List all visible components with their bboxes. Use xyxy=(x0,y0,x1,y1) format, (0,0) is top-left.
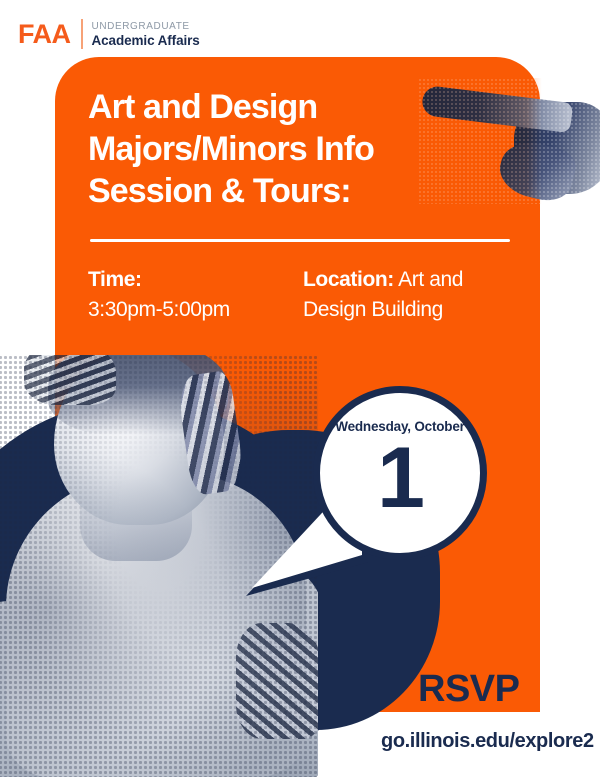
title-line-1: Art and Design xyxy=(88,86,518,128)
title-line-3: Session & Tours: xyxy=(88,170,518,212)
title-divider-rule xyxy=(90,239,510,242)
event-details: Time: 3:30pm-5:00pm Location: Art and De… xyxy=(88,266,518,325)
classical-statue-image xyxy=(0,355,318,777)
location-value-second-line: Design Building xyxy=(303,294,518,325)
page-title: Art and Design Majors/Minors Info Sessio… xyxy=(88,86,518,212)
location-first-line: Location: Art and xyxy=(303,266,518,294)
rsvp-url[interactable]: go.illinois.edu/explore2 xyxy=(381,729,594,753)
date-day-number: 1 xyxy=(377,432,423,524)
time-value: 3:30pm-5:00pm xyxy=(88,294,303,325)
logo-divider xyxy=(81,19,83,49)
statue-halftone-overlay xyxy=(0,355,318,777)
time-column: Time: 3:30pm-5:00pm xyxy=(88,266,303,325)
logo-text-block: UNDERGRADUATE Academic Affairs xyxy=(92,21,200,48)
faa-wordmark: FAA xyxy=(18,21,71,48)
location-label: Location: xyxy=(303,268,394,291)
time-label: Time: xyxy=(88,266,303,294)
location-column: Location: Art and Design Building xyxy=(303,266,518,325)
date-bubble: Wednesday, October 1 xyxy=(313,386,487,560)
rsvp-label: RSVP xyxy=(418,668,519,710)
location-value-inline: Art and xyxy=(394,268,463,291)
poster-canvas: FAA UNDERGRADUATE Academic Affairs Wedne… xyxy=(0,0,600,777)
logo-line-undergraduate: UNDERGRADUATE xyxy=(92,21,200,33)
faa-logo: FAA UNDERGRADUATE Academic Affairs xyxy=(18,18,200,50)
title-line-2: Majors/Minors Info xyxy=(88,128,518,170)
logo-line-academic-affairs: Academic Affairs xyxy=(92,33,200,48)
